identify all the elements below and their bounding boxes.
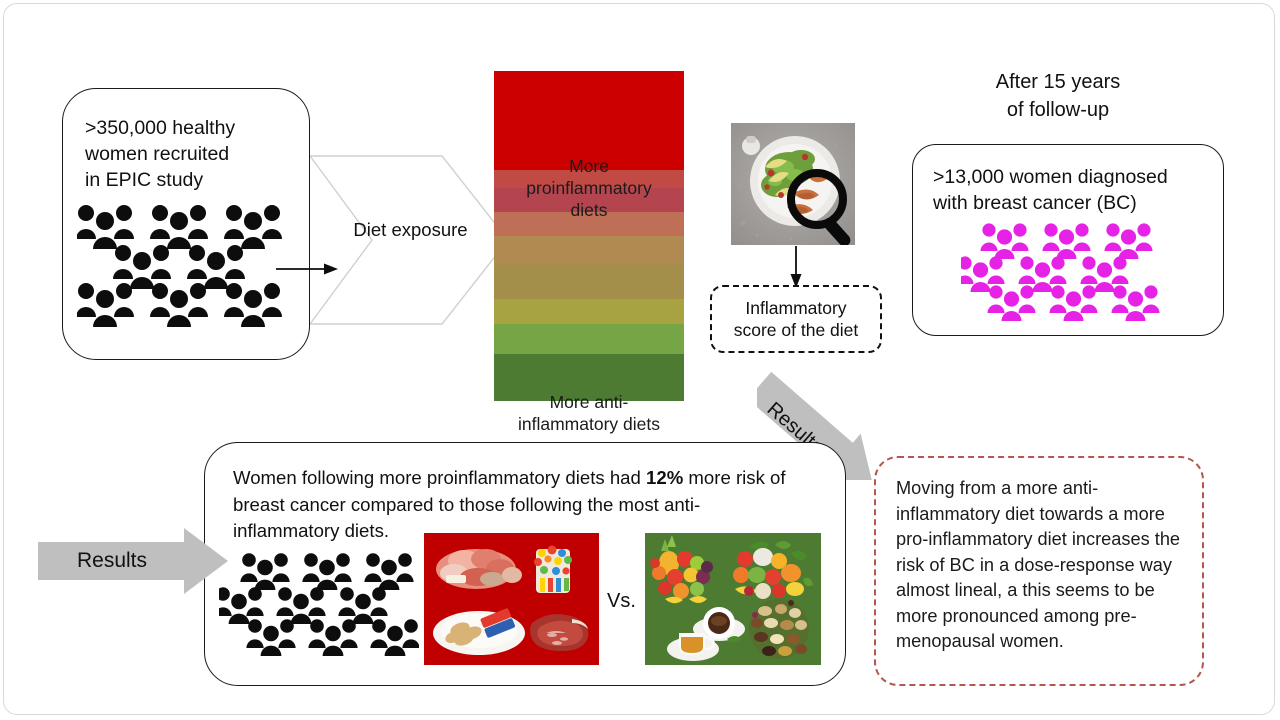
down-arrow-icon <box>789 246 803 288</box>
gradient-top-label: More proinflammatory diets <box>494 155 684 221</box>
inflammatory-score-text: Inflammatory score of the diet <box>734 297 859 341</box>
gradient-band <box>494 324 684 354</box>
right-arrow-icon: Results <box>38 528 228 594</box>
people-group-icon <box>219 553 419 668</box>
gradient-band <box>494 299 684 324</box>
cohort-text: >350,000 healthy women recruited in EPIC… <box>85 115 295 193</box>
processed-meat-photo <box>424 533 599 665</box>
gradient-band <box>494 236 684 264</box>
conclusion-text: Moving from a more anti-inflammatory die… <box>896 476 1190 655</box>
people-group-icon <box>77 205 295 334</box>
cohort-card: >350,000 healthy women recruited in EPIC… <box>62 88 310 360</box>
results-line1: Women following more proinflammatory die… <box>233 467 646 488</box>
diet-exposure-label: Diet exposure <box>329 219 492 241</box>
fruit-vegetable-photo <box>645 533 821 665</box>
results-line1-end: more risk <box>683 467 765 488</box>
outcome-card: >13,000 women diagnosed with breast canc… <box>912 144 1224 336</box>
people-group-icon <box>961 223 1181 330</box>
gradient-band <box>494 264 684 299</box>
results-highlight: 12% <box>646 467 683 488</box>
vs-label: Vs. <box>607 590 636 613</box>
inflammatory-score-box: Inflammatory score of the diet <box>710 285 882 353</box>
gradient-bottom-label: More anti- inflammatory diets <box>494 391 684 435</box>
results-line3: inflammatory diets. <box>233 520 389 541</box>
right-arrow-icon <box>276 262 338 276</box>
conclusion-card: Moving from a more anti-inflammatory die… <box>874 456 1204 686</box>
results-label-left: Results <box>38 528 186 594</box>
followup-heading: After 15 years of follow-up <box>912 68 1204 124</box>
salad-plate-photo <box>731 123 855 245</box>
outcome-text: >13,000 women diagnosed with breast canc… <box>933 164 1213 216</box>
diet-inflammation-gradient: More proinflammatory diets More anti- in… <box>494 71 684 401</box>
